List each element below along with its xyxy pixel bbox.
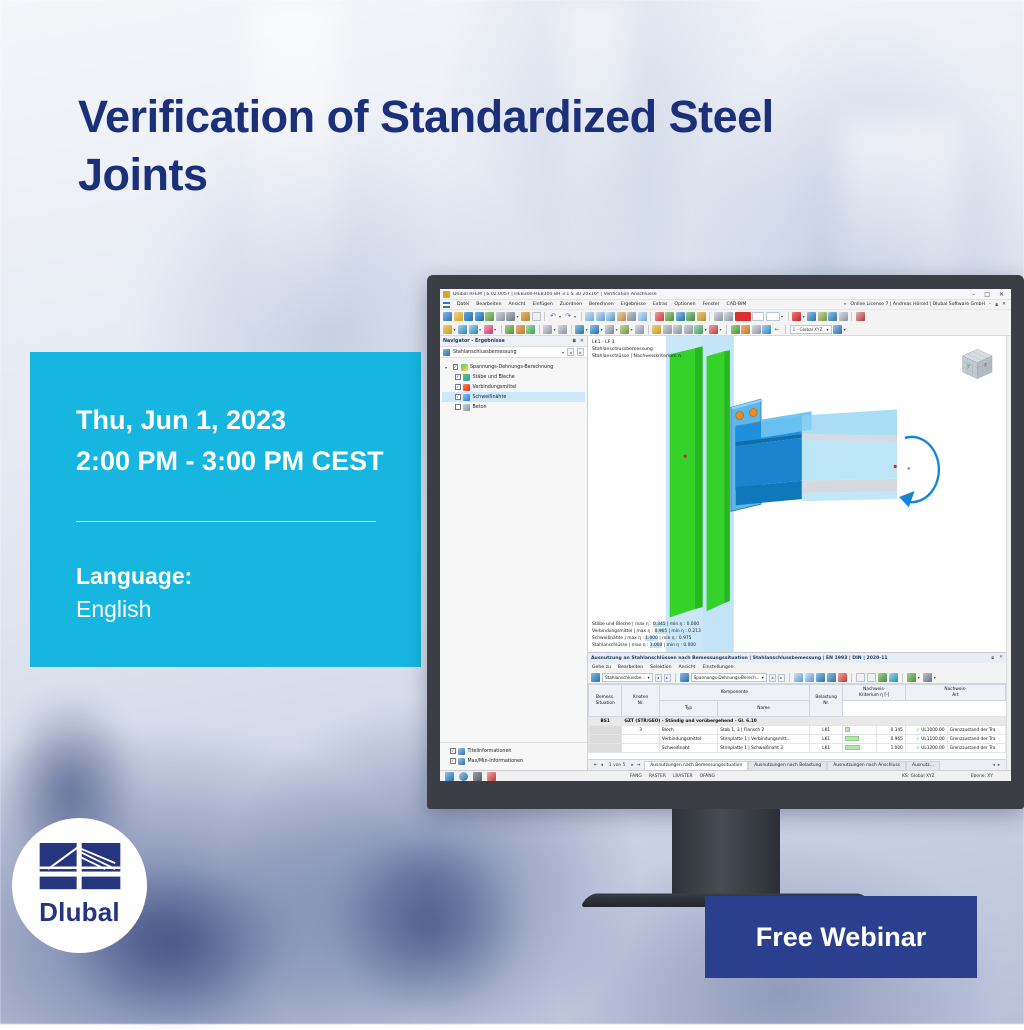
maximize-icon[interactable]: □ xyxy=(984,291,990,298)
results-module-dropdown-icon[interactable]: ▾ xyxy=(647,675,649,680)
lf-dropdown-icon[interactable]: ▾ xyxy=(781,314,783,319)
result-line-schweissnaehte: Schweißnähte | max η : 1.000 | min η : 0… xyxy=(592,635,701,642)
navigator-header-buttons[interactable]: ⧈ ✕ xyxy=(573,338,584,344)
app-statusbar: FANG RASTER LRASTER OFANG KS: Global XYZ… xyxy=(440,770,1011,781)
redo-dropdown-icon[interactable]: ▾ xyxy=(574,314,576,319)
viewport-info-label: LK1 - LF 1 Stahlanschlussbemessung Stahl… xyxy=(592,339,681,360)
module-next-button[interactable]: ▸ xyxy=(577,348,584,356)
navigator-tree[interactable]: ▾ ✓ Spannungs-Dehnungs-Berechnung ✓ Stäb… xyxy=(440,358,587,742)
imperfection-icon[interactable] xyxy=(635,325,644,334)
view-settings-dropdown-icon[interactable]: ▾ xyxy=(844,327,846,332)
results-menu-gehe-zu[interactable]: Gehe zu xyxy=(592,665,611,670)
result-max-label: max η : xyxy=(627,636,644,641)
results-analysis-next-button[interactable]: ▸ xyxy=(778,674,785,682)
surface-dropdown-icon[interactable]: ▾ xyxy=(494,327,496,332)
check-ok-icon: ✓ xyxy=(916,737,920,742)
result-min-value: 0.975 xyxy=(679,636,692,641)
zoom-icon[interactable] xyxy=(856,312,865,321)
wcs-icon[interactable] xyxy=(762,325,771,334)
status-flag-ofang[interactable]: OFANG xyxy=(700,774,715,779)
hinge-icon[interactable] xyxy=(526,325,535,334)
free-load-icon[interactable] xyxy=(620,325,629,334)
cell-art: Grenzzustand der Tra xyxy=(947,735,1005,744)
result-max-value: 1.000 xyxy=(650,643,663,648)
navigator-pin-icon[interactable]: ⧈ xyxy=(573,338,576,344)
menu-overflow-icon[interactable]: » xyxy=(844,302,847,307)
minimize-icon[interactable]: – xyxy=(972,291,975,298)
coordinate-system-value: 1 - Global XYZ xyxy=(793,327,823,332)
result-min-label: min η : xyxy=(671,629,686,634)
th-knoten-nr[interactable]: Knoten Nr. xyxy=(622,685,660,717)
section2-icon[interactable] xyxy=(724,312,733,321)
print-dropdown-icon[interactable]: ▾ xyxy=(517,314,519,319)
page-indicator: 1 von 5 xyxy=(606,763,628,768)
cell-art: Grenzzustand der Tra xyxy=(947,744,1005,753)
toolbar-separator xyxy=(544,312,545,321)
tree-node-beton[interactable]: Beton xyxy=(442,402,585,412)
menu-item-ansicht[interactable]: Ansicht xyxy=(509,302,526,307)
doc-restore-icon[interactable]: ⧈ xyxy=(995,302,998,308)
view-tile-icon[interactable] xyxy=(596,312,605,321)
result-max-value: 0.965 xyxy=(655,629,668,634)
results-toolbar-separator xyxy=(675,673,676,682)
star-dropdown-icon[interactable]: ▾ xyxy=(803,314,805,319)
find-icon[interactable] xyxy=(794,673,803,682)
tree-checkbox[interactable]: ✓ xyxy=(455,374,461,380)
toolbar-separator-2 xyxy=(581,312,582,321)
tree-node-titelinformationen[interactable]: ✓ Titelinformationen xyxy=(450,746,585,756)
app-logo-icon xyxy=(443,291,450,298)
table-row[interactable]: Verbindungsmittel Stirnplatte 1 | Verbin… xyxy=(589,735,1006,744)
result-name: Schweißnähte xyxy=(592,636,623,641)
tab-scroll-right-icon[interactable]: ▸ xyxy=(998,763,1000,768)
export-xls-icon[interactable] xyxy=(878,673,887,682)
results-panel-toolbar[interactable]: Stahlanschlussbe... ▾ ◂ ▸ Spannungs-Dehn… xyxy=(588,672,1006,684)
tree-checkbox[interactable] xyxy=(455,404,461,410)
member-icon[interactable] xyxy=(469,325,478,334)
menu-item-ergebnisse[interactable]: Ergebnisse xyxy=(621,302,646,307)
cell-art-nr: ✓ UL1100.00 xyxy=(905,735,947,744)
th-nachweiskriterium[interactable]: Nachweis- Kriterium η [-] xyxy=(843,685,906,701)
tree-node-schweissnaehte[interactable]: ✓ Schweißnähte xyxy=(442,392,585,402)
menu-item-einfuegen[interactable]: Einfügen xyxy=(532,302,552,307)
menu-item-bearbeiten[interactable]: Bearbeiten xyxy=(476,302,501,307)
cell-typ: Schweißnaht xyxy=(659,744,717,753)
statusbar-icons[interactable] xyxy=(440,772,588,781)
result-line-stahlanschluesse: Stahlanschlüsse | max η : 1.000 | min η … xyxy=(592,642,701,649)
license-info: » Online License 7 | Andreas Hörold | Dl… xyxy=(844,302,1008,308)
line-load-dropdown-icon[interactable]: ▾ xyxy=(601,327,603,332)
window-controls[interactable]: – □ ✕ xyxy=(972,291,1008,298)
results-menu-selektion[interactable]: Selektion xyxy=(650,665,671,670)
layout-icon[interactable] xyxy=(867,673,876,682)
background-blob-2 xyxy=(330,830,530,1020)
event-time: 2:00 PM - 3:00 PM CEST xyxy=(76,441,421,482)
utilization-bar xyxy=(845,745,859,750)
tree-node-label: Beton xyxy=(473,405,487,410)
result-max-value: 1.000 xyxy=(645,636,658,641)
results-panel-menubar[interactable]: Gehe zu Bearbeiten Selektion Ansicht Ein… xyxy=(588,663,1006,672)
tab-ausnutzungen-nach-anschluss[interactable]: Ausnutzungen nach Anschluss xyxy=(827,761,906,770)
open-icon[interactable] xyxy=(454,312,463,321)
menu-item-optionen[interactable]: Optionen xyxy=(674,302,695,307)
tree-node-label: Schweißnähte xyxy=(473,395,507,400)
results-table-header-row: Bemess. Situation Knoten Nr. Komponen xyxy=(589,685,1006,701)
navigator-close-icon[interactable]: ✕ xyxy=(580,338,584,344)
tree-node-label: Max/Min-Informationen xyxy=(468,759,524,764)
navigator-header: Navigator - Ergebnisse ⧈ ✕ xyxy=(440,336,587,347)
table-group-row[interactable]: BS1 GZT (STR/GEO) - Ständig und vorüberg… xyxy=(589,717,1006,726)
result-name: Stahlanschlüsse xyxy=(592,643,627,648)
filter2-icon[interactable] xyxy=(816,673,825,682)
th-typ[interactable]: Typ xyxy=(659,701,717,717)
colorbar-icon[interactable] xyxy=(838,673,847,682)
module-prev-button[interactable]: ◂ xyxy=(567,348,574,356)
star-icon[interactable] xyxy=(792,312,801,321)
result-max-label: max η : xyxy=(637,629,654,634)
tools-dropdown-icon[interactable]: ▾ xyxy=(720,327,722,332)
tree-checkbox[interactable]: ✓ xyxy=(450,758,456,764)
close-icon[interactable]: ✕ xyxy=(999,291,1004,298)
divider xyxy=(76,521,376,522)
results-module-icon xyxy=(591,673,600,682)
cell-art-nr: ✓ UL1000.00 xyxy=(905,726,947,735)
toolbar2-separator-4 xyxy=(648,325,649,334)
tab-ausnutzungen-more[interactable]: Ausnutz... xyxy=(906,761,940,770)
result-max-value: 0.345 xyxy=(653,622,666,627)
menu-item-cad-bim[interactable]: CAD-BIM xyxy=(727,302,747,307)
result-min-label: min η : xyxy=(670,622,685,627)
results-panel: Ausnutzung an Stahlanschlüssen nach Beme… xyxy=(588,652,1006,770)
statusbar-flags[interactable]: FANG RASTER LRASTER OFANG xyxy=(588,774,715,779)
saveas-icon[interactable] xyxy=(475,312,484,321)
tree-node-label: Stäbe und Bleche xyxy=(473,375,515,380)
tree-node-label: Verbindungsmittel xyxy=(473,385,517,390)
tree-node-verbindungsmittel[interactable]: ✓ Verbindungsmittel xyxy=(442,382,585,392)
toolbar-separator-3 xyxy=(650,312,651,321)
status-flag-lraster[interactable]: LRASTER xyxy=(673,774,693,779)
cell-eta-bar xyxy=(843,744,876,753)
cell-art-nr: ✓ UL1200.00 xyxy=(905,744,947,753)
th-belastung-nr[interactable]: Belastung Nr. xyxy=(809,685,842,717)
surface-load-icon[interactable] xyxy=(605,325,614,334)
nodal-support-dropdown-icon[interactable]: ▾ xyxy=(554,327,556,332)
printer-icon[interactable] xyxy=(506,312,515,321)
cell-situation xyxy=(589,726,622,735)
first-page-icon[interactable]: ⇤ xyxy=(594,763,598,768)
result-name: Verbindungsmittel xyxy=(592,629,632,634)
results-module-value: Stahlanschlussbe... xyxy=(605,675,645,680)
select-dropdown-icon[interactable]: ▾ xyxy=(918,675,920,680)
app-menubar[interactable]: Datei Bearbeiten Ansicht Einfügen Zuordn… xyxy=(440,300,1011,310)
results-module-prev-button[interactable]: ◂ xyxy=(655,674,662,682)
refresh2-icon[interactable] xyxy=(805,673,814,682)
table-row[interactable]: 3 Blech Stab 1, 3 | Flansch 2 LK1 0.345 … xyxy=(589,726,1006,735)
results-panel-pin-icon[interactable]: ⧈ xyxy=(991,655,994,661)
results-module-next-button[interactable]: ▸ xyxy=(664,674,671,682)
snap-mode-icon[interactable] xyxy=(445,772,454,781)
menu-item-fenster[interactable]: Fenster xyxy=(702,302,719,307)
result-min-label: min η : xyxy=(667,643,682,648)
support-icon[interactable] xyxy=(516,325,525,334)
table-row[interactable]: Schweißnaht Stirnplatte 1 | Schweißnaht … xyxy=(589,744,1006,753)
status-flag-fang[interactable]: FANG xyxy=(630,774,642,779)
grid-icon[interactable] xyxy=(697,312,706,321)
cell-eta: 1.000 xyxy=(876,744,905,753)
print-table-dropdown-icon[interactable]: ▾ xyxy=(934,675,936,680)
results-analysis-value: Spannungs-Dehnungs-Berech... xyxy=(694,675,760,680)
result-bar-icon[interactable] xyxy=(828,312,837,321)
results-analysis-prev-button[interactable]: ◂ xyxy=(769,674,776,682)
coordinate-system-select[interactable]: 1 - Global XYZ ▾ xyxy=(790,325,832,334)
toolbar2-separator-5 xyxy=(726,325,727,334)
results-panel-close-icon[interactable]: ✕ xyxy=(999,655,1003,661)
visibility-icon[interactable] xyxy=(459,772,468,781)
dim2-icon[interactable] xyxy=(663,325,672,334)
node-icon[interactable] xyxy=(443,325,452,334)
cell-eta-bar xyxy=(843,726,876,735)
svg-text:X: X xyxy=(984,363,987,368)
results-panel-titlebar: Ausnutzung an Stahlanschlüssen nach Beme… xyxy=(588,653,1006,663)
dim4-icon[interactable] xyxy=(684,325,693,334)
results-analysis-select[interactable]: Spannungs-Dehnungs-Berech... ▾ xyxy=(691,673,767,682)
nodal-load-dropdown-icon[interactable]: ▾ xyxy=(586,327,588,332)
app-menu-grid-icon[interactable] xyxy=(443,302,450,308)
globe-icon[interactable] xyxy=(889,673,898,682)
camera-icon[interactable] xyxy=(473,772,482,781)
print-table-icon[interactable] xyxy=(923,673,932,682)
tab-scroll-left-icon[interactable]: ◂ xyxy=(993,763,995,768)
tree-node-label: Titelinformationen xyxy=(468,749,512,754)
result-min-label: min η : xyxy=(662,636,677,641)
result-line-verbindungsmittel: Verbindungsmittel | max η : 0.965 | min … xyxy=(592,628,701,635)
tab-ausnutzungen-nach-belastung[interactable]: Ausnutzungen nach Belastung xyxy=(748,761,827,770)
cell-situation xyxy=(589,744,622,753)
view-split-icon[interactable] xyxy=(606,312,615,321)
menu-item-extras[interactable]: Extras xyxy=(653,302,668,307)
nodal-load-icon[interactable] xyxy=(575,325,584,334)
app-titlebar: Dlubal RFEM | 6.02.0057 | HEB300-HEB300 … xyxy=(440,289,1011,300)
menu-item-datei[interactable]: Datei xyxy=(457,302,469,307)
tree-node-staebe-und-bleche[interactable]: ✓ Stäbe und Bleche xyxy=(442,372,585,382)
results-menu-bearbeiten[interactable]: Bearbeiten xyxy=(618,665,643,670)
filter-icon[interactable] xyxy=(818,312,827,321)
tab-scroll-controls[interactable]: ◂ ▸ xyxy=(989,763,1004,768)
steel-joint-model[interactable] xyxy=(588,336,1006,652)
app-toolbar-secondary[interactable]: ▾ ▾ ▾ ▾ ▾ xyxy=(440,323,1011,336)
lf-combo-icon[interactable] xyxy=(766,312,780,321)
doc-close-icon[interactable]: ✕ xyxy=(1002,302,1006,307)
svg-text:-Y: -Y xyxy=(967,364,971,369)
last-page-icon[interactable]: ⇥ xyxy=(637,763,641,768)
results-toolbar-separator-2 xyxy=(789,673,790,682)
tree-checkbox[interactable]: ✓ xyxy=(455,394,461,400)
print-icon[interactable] xyxy=(496,312,505,321)
dim3-icon[interactable] xyxy=(673,325,682,334)
dim-icon[interactable] xyxy=(652,325,661,334)
tools-icon[interactable] xyxy=(709,325,718,334)
surface-icon[interactable] xyxy=(484,325,493,334)
paint-icon[interactable] xyxy=(694,325,703,334)
table-view-icon[interactable] xyxy=(856,673,865,682)
redo-icon[interactable]: ↷ xyxy=(564,312,573,321)
view-print-icon[interactable] xyxy=(627,312,636,321)
th-komponente[interactable]: Komponente xyxy=(659,685,809,701)
tree-checkbox[interactable]: ✓ xyxy=(450,748,456,754)
group-label: GZT (STR/GEO) - Ständig und vorübergehen… xyxy=(622,717,1006,726)
navigator-panel: Navigator - Ergebnisse ⧈ ✕ Stahlanschlus… xyxy=(440,336,588,770)
cell-typ: Verbindungsmittel xyxy=(659,735,717,744)
back-icon[interactable]: ← xyxy=(773,325,782,334)
grid2-icon[interactable] xyxy=(741,325,750,334)
th-name[interactable]: Name xyxy=(718,701,810,717)
viewport-criterion: Stahlanschlüsse | Nachweiskriterium n xyxy=(592,353,681,360)
navigator-module-controls[interactable]: ▾ ◂ ▸ xyxy=(562,348,584,356)
view-table-icon[interactable] xyxy=(638,312,647,321)
status-flag-raster[interactable]: RASTER xyxy=(649,774,666,779)
check-ok-icon: ✓ xyxy=(916,746,920,751)
tree-node-maxmin-informationen[interactable]: ✓ Max/Min-Informationen xyxy=(450,756,585,766)
report-icon[interactable] xyxy=(521,312,530,321)
cell-typ: Blech xyxy=(659,726,717,735)
node-dropdown-icon[interactable]: ▾ xyxy=(454,327,456,332)
results-tabbar[interactable]: ⇤ ◂ 1 von 5 ▸ ⇥ Ausnutzungen nach Bemess… xyxy=(588,759,1006,770)
results-table[interactable]: Bemess. Situation Knoten Nr. Komponen xyxy=(588,684,1006,753)
view-window-icon[interactable] xyxy=(585,312,594,321)
view-settings-icon[interactable] xyxy=(833,325,842,334)
results-icon[interactable] xyxy=(676,312,685,321)
line-support-icon[interactable] xyxy=(558,325,567,334)
free-webinar-button[interactable]: Free Webinar xyxy=(705,896,977,978)
monitor: Dlubal RFEM | 6.02.0057 | HEB300-HEB300 … xyxy=(427,275,1024,809)
results-panel-buttons[interactable]: ⧈ ✕ xyxy=(991,655,1003,661)
sort-icon[interactable] xyxy=(827,673,836,682)
measure-icon[interactable] xyxy=(487,772,496,781)
snap-icon[interactable] xyxy=(731,325,740,334)
rfem-application: Dlubal RFEM | 6.02.0057 | HEB300-HEB300 … xyxy=(440,289,1011,781)
free-load-dropdown-icon[interactable]: ▾ xyxy=(631,327,633,332)
members-plates-icon xyxy=(463,374,470,381)
undo-icon[interactable]: ↶ xyxy=(549,312,558,321)
utilization-bar xyxy=(845,736,859,741)
title-info-icon xyxy=(458,748,465,755)
line-load-icon[interactable] xyxy=(590,325,599,334)
menu-item-zuordnen[interactable]: Zuordnen xyxy=(560,302,582,307)
paint-dropdown-icon[interactable]: ▾ xyxy=(705,327,707,332)
copy-icon[interactable] xyxy=(532,312,541,321)
results-toolbar-separator-4 xyxy=(902,673,903,682)
utilization-bar xyxy=(845,727,850,732)
result-max-label: max η : xyxy=(632,643,649,648)
app-toolbar-main[interactable]: ▾ ↶ ▾ ↷ ▾ xyxy=(440,310,1011,323)
cell-name: Stab 1, 3 | Flansch 2 xyxy=(718,726,810,735)
select-icon[interactable] xyxy=(907,673,916,682)
module-icon xyxy=(443,349,450,356)
cell-art: Grenzzustand der Tra xyxy=(947,726,1005,735)
work-area: LK1 - LF 1 Stahlanschlussbemessung Stahl… xyxy=(588,336,1006,770)
th-bemess-situation[interactable]: Bemess. Situation xyxy=(589,685,622,717)
welds-icon xyxy=(463,394,470,401)
import-icon[interactable] xyxy=(485,312,494,321)
plane-icon[interactable] xyxy=(752,325,761,334)
navigator-module-select[interactable]: Stahlanschlussbemessung ▾ ◂ ▸ xyxy=(440,347,587,358)
group-index: BS1 xyxy=(589,717,622,726)
results-table-container[interactable]: Bemess. Situation Knoten Nr. Komponen xyxy=(588,684,1006,759)
save-icon[interactable] xyxy=(464,312,473,321)
nodal-support-icon[interactable] xyxy=(543,325,552,334)
language-label: Language: xyxy=(76,560,421,593)
cell-name: Stirnplatte 1 | Schweißnaht 3 xyxy=(718,744,810,753)
surface-load-dropdown-icon[interactable]: ▾ xyxy=(616,327,618,332)
check-ok-icon: ✓ xyxy=(916,728,920,733)
calc-icon[interactable] xyxy=(665,312,674,321)
loads-icon[interactable] xyxy=(655,312,664,321)
navigator-footer[interactable]: ✓ Titelinformationen ✓ Max/Min-Informati… xyxy=(440,742,587,770)
module-dropdown-icon[interactable]: ▾ xyxy=(562,350,564,355)
tree-node-spannungs-dehnungs-berechnung[interactable]: ▾ ✓ Spannungs-Dehnungs-Berechnung xyxy=(442,362,585,372)
tree-checkbox[interactable]: ✓ xyxy=(453,364,459,370)
loadcase-badge[interactable] xyxy=(735,312,751,321)
coordinate-system-dropdown-icon[interactable]: ▾ xyxy=(827,327,829,332)
navigator-module-value: Stahlanschlussbemessung xyxy=(453,350,517,355)
section-icon[interactable] xyxy=(714,312,723,321)
refresh-icon[interactable] xyxy=(686,312,695,321)
menu-item-berechnen[interactable]: Berechnen xyxy=(589,302,614,307)
results-menu-ansicht[interactable]: Ansicht xyxy=(678,665,695,670)
tree-checkbox[interactable]: ✓ xyxy=(455,384,461,390)
doc-minimize-icon[interactable]: – xyxy=(989,302,991,307)
result-min-value: 0.000 xyxy=(687,622,700,627)
app-title-text: Dlubal RFEM | 6.02.0057 | HEB300-HEB300 … xyxy=(453,292,657,297)
new-icon[interactable] xyxy=(443,312,452,321)
th-nachweis-art[interactable]: Nachweis- Art xyxy=(905,685,1005,701)
table-pager[interactable]: ⇤ ◂ 1 von 5 ▸ ⇥ xyxy=(590,763,644,768)
result-max-label: max η : xyxy=(635,622,652,627)
statusbar-right: KS: Global XYZ Ebene: XY xyxy=(902,774,1011,779)
results-analysis-dropdown-icon[interactable]: ▾ xyxy=(762,675,764,680)
line-icon[interactable] xyxy=(458,325,467,334)
tree-expand-icon[interactable]: ▾ xyxy=(445,365,450,370)
prev-page-icon[interactable]: ◂ xyxy=(601,763,603,768)
viewport-results-summary: Stäbe und Bleche | max η : 0.345 | min η… xyxy=(592,621,701,649)
app-body: Navigator - Ergebnisse ⧈ ✕ Stahlanschlus… xyxy=(440,336,1011,770)
vertical-scrollbar[interactable] xyxy=(1006,336,1011,770)
maxmin-info-icon xyxy=(458,758,465,765)
undo-dropdown-icon[interactable]: ▾ xyxy=(559,314,561,319)
viewport-3d[interactable]: LK1 - LF 1 Stahlanschlussbemessung Stahl… xyxy=(588,336,1006,652)
results-toolbar-separator-3 xyxy=(851,673,852,682)
deform-icon[interactable] xyxy=(807,312,816,321)
cell-knoten xyxy=(622,744,660,753)
dlubal-bridge-icon xyxy=(38,843,122,892)
next-page-icon[interactable]: ▸ xyxy=(631,763,633,768)
view-cube[interactable]: -Y X xyxy=(956,344,996,384)
loadcase-label[interactable] xyxy=(752,312,764,321)
results-menu-einstellungen[interactable]: Einstellungen xyxy=(702,665,733,670)
results-panel-title: Ausnutzung an Stahlanschlüssen nach Beme… xyxy=(591,656,888,661)
toolbar2-separator xyxy=(501,325,502,334)
toolbar2-separator-3 xyxy=(571,325,572,334)
results-module-select[interactable]: Stahlanschlussbe... ▾ xyxy=(602,673,653,682)
tree-node-label: Spannungs-Dehnungs-Berechnung xyxy=(470,365,553,370)
tab-ausnutzungen-nach-bemessungssituation[interactable]: Ausnutzungen nach Bemessungssituation xyxy=(644,761,748,770)
member-dropdown-icon[interactable]: ▾ xyxy=(479,327,481,332)
results-analysis-icon xyxy=(680,673,689,682)
view-render-icon[interactable] xyxy=(617,312,626,321)
isolines-icon[interactable] xyxy=(839,312,848,321)
solid-icon[interactable] xyxy=(505,325,514,334)
dlubal-wordmark: Dlubal xyxy=(39,897,120,928)
